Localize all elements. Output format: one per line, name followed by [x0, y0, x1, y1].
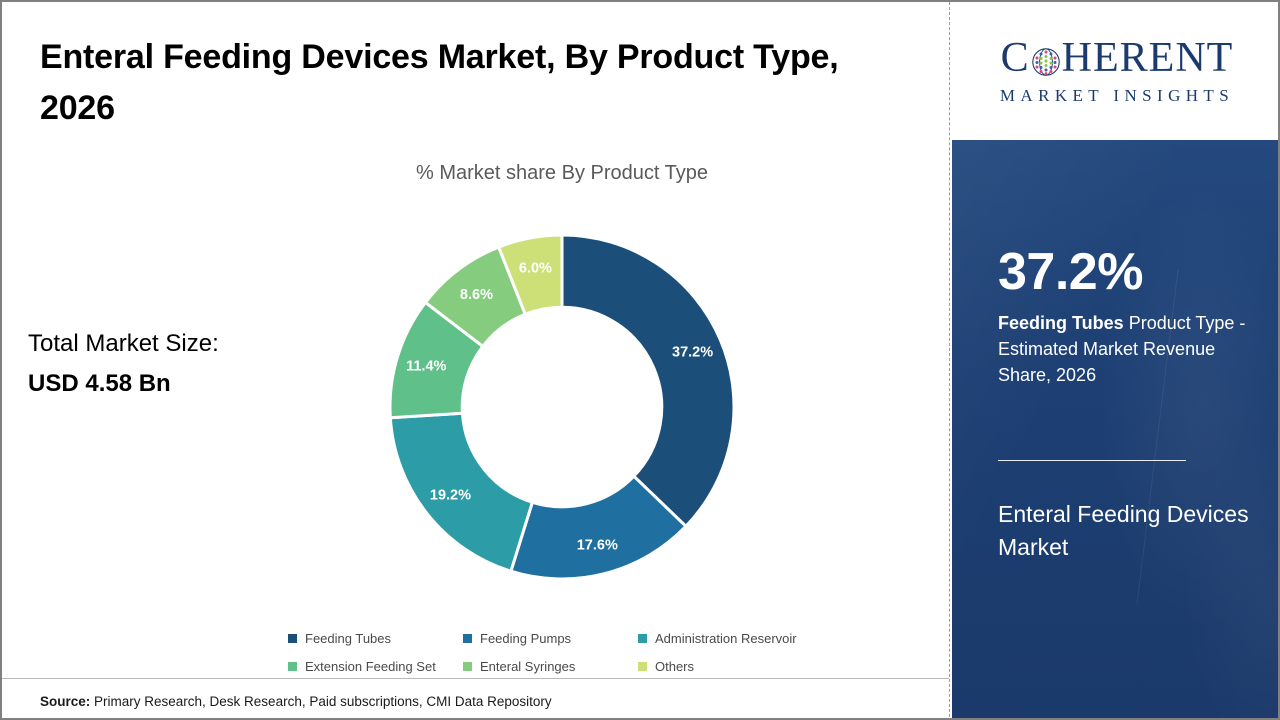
legend-label: Extension Feeding Set	[305, 659, 436, 674]
legend-swatch	[463, 634, 472, 643]
total-market-size: Total Market Size: USD 4.58 Bn	[28, 324, 318, 403]
donut-slice-label: 19.2%	[430, 488, 471, 504]
donut-chart-svg: 37.2%17.6%19.2%11.4%8.6%6.0%	[387, 232, 737, 582]
legend-swatch	[638, 634, 647, 643]
source-label: Source:	[40, 694, 90, 709]
logo-word-before: C	[1001, 37, 1030, 79]
main-content-area: Enteral Feeding Devices Market, By Produ…	[2, 2, 949, 720]
legend-item: Extension Feeding Set	[288, 659, 463, 674]
source-text: Primary Research, Desk Research, Paid su…	[90, 694, 551, 709]
donut-slice-label: 6.0%	[519, 261, 552, 277]
legend-label: Feeding Pumps	[480, 631, 571, 646]
donut-slice-label: 8.6%	[460, 287, 493, 303]
legend-item: Feeding Pumps	[463, 631, 638, 646]
donut-slices	[390, 235, 734, 579]
logo-wordmark: C HERENT	[1001, 37, 1234, 79]
legend-swatch	[638, 662, 647, 671]
legend-label: Administration Reservoir	[655, 631, 797, 646]
page-title: Enteral Feeding Devices Market, By Produ…	[40, 32, 850, 134]
legend-item: Others	[638, 659, 888, 674]
donut-slice-label: 11.4%	[406, 359, 446, 375]
footer-divider	[2, 678, 949, 679]
legend-swatch	[288, 662, 297, 671]
logo: C HERENT MARKET INSIGHTS	[952, 2, 1280, 140]
source-note: Source: Primary Research, Desk Research,…	[40, 694, 552, 709]
legend-item: Enteral Syringes	[463, 659, 638, 674]
logo-tagline: MARKET INSIGHTS	[1000, 86, 1234, 106]
chart-legend: Feeding TubesFeeding PumpsAdministration…	[288, 624, 888, 680]
highlight-description: Feeding Tubes Product Type - Estimated M…	[998, 310, 1248, 388]
globe-icon	[1031, 43, 1061, 73]
total-market-size-value: USD 4.58 Bn	[28, 364, 318, 404]
donut-slice-label: 37.2%	[672, 344, 713, 360]
logo-word-after: HERENT	[1062, 37, 1234, 79]
legend-swatch	[463, 662, 472, 671]
legend-label: Others	[655, 659, 694, 674]
infographic-page: Enteral Feeding Devices Market, By Produ…	[0, 0, 1280, 720]
chart-subtitle: % Market share By Product Type	[302, 162, 822, 185]
highlight-panel: 37.2% Feeding Tubes Product Type - Estim…	[952, 140, 1280, 720]
legend-item: Administration Reservoir	[638, 631, 888, 646]
donut-slice-label: 17.6%	[577, 537, 618, 553]
panel-divider	[998, 460, 1186, 461]
legend-swatch	[288, 634, 297, 643]
vertical-dashed-divider	[949, 2, 950, 720]
legend-label: Enteral Syringes	[480, 659, 575, 674]
total-market-size-label: Total Market Size:	[28, 324, 318, 364]
brand-panel: C HERENT MARKET INSIGHTS	[952, 2, 1280, 720]
panel-background-texture	[952, 140, 1280, 720]
donut-chart: 37.2%17.6%19.2%11.4%8.6%6.0%	[387, 232, 737, 582]
legend-item: Feeding Tubes	[288, 631, 463, 646]
panel-market-name: Enteral Feeding Devices Market	[998, 498, 1258, 565]
highlight-description-bold: Feeding Tubes	[998, 313, 1124, 333]
legend-label: Feeding Tubes	[305, 631, 391, 646]
highlight-percent: 37.2%	[998, 246, 1143, 298]
donut-slice	[562, 235, 734, 526]
